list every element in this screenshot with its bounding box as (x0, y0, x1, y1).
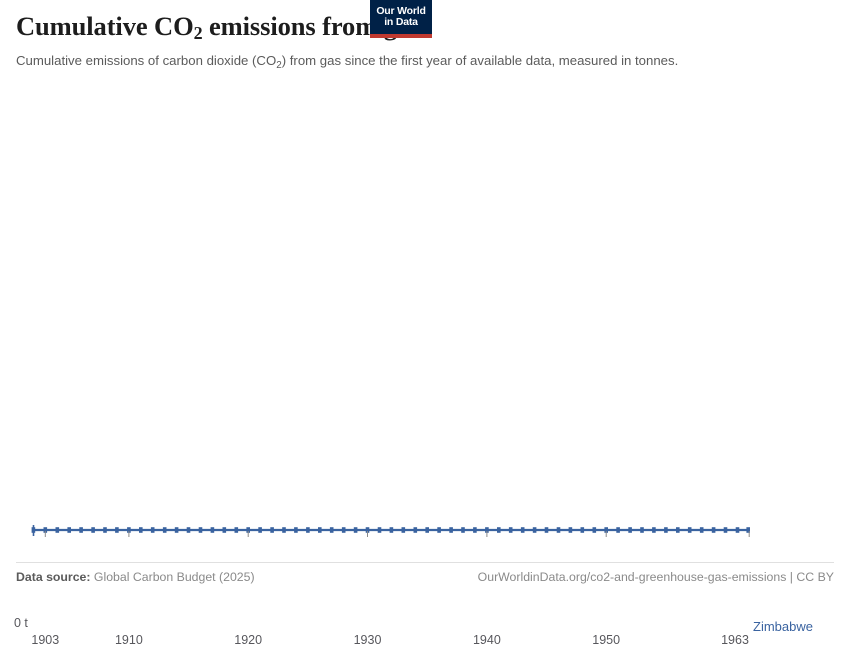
chart-svg (0, 95, 850, 555)
data-source-value: Global Carbon Budget (2025) (91, 570, 255, 584)
x-axis-tick-label: 1950 (592, 633, 620, 647)
footer-divider (16, 562, 834, 563)
chart-root: Cumulative CO2 emissions from gas Cumula… (0, 0, 850, 600)
x-axis-tick-label: 1963 (721, 633, 749, 647)
attribution-link[interactable]: OurWorldinData.org/co2-and-greenhouse-ga… (478, 570, 834, 584)
x-axis-tick-label: 1910 (115, 633, 143, 647)
x-axis-tick-label: 1920 (234, 633, 262, 647)
owid-logo-box: Our World in Data (370, 0, 432, 38)
series-label-zimbabwe[interactable]: Zimbabwe (753, 619, 813, 634)
x-axis-tick-label: 1903 (31, 633, 59, 647)
data-source-label: Data source: (16, 570, 91, 584)
plot-area[interactable]: 0 t Zimbabwe 1903 1910 1920 1930 1940 19… (0, 95, 850, 555)
chart-footer: Data source: Global Carbon Budget (2025)… (16, 570, 834, 584)
page-title-subscript: 2 (194, 23, 203, 43)
chart-subtitle: Cumulative emissions of carbon dioxide (… (16, 52, 706, 73)
y-axis-tick-label: 0 t (14, 616, 28, 630)
page-title-prefix: Cumulative CO (16, 11, 194, 41)
chart-subtitle-prefix: Cumulative emissions of carbon dioxide (… (16, 53, 276, 68)
chart-subtitle-subscript: 2 (276, 60, 282, 71)
x-axis-tick-label: 1940 (473, 633, 501, 647)
x-axis-tick-label: 1930 (354, 633, 382, 647)
owid-logo-line-2: in Data (384, 17, 418, 29)
data-source: Data source: Global Carbon Budget (2025) (16, 570, 255, 584)
chart-subtitle-suffix: ) from gas since the first year of avail… (282, 53, 679, 68)
series-markers (32, 527, 750, 533)
